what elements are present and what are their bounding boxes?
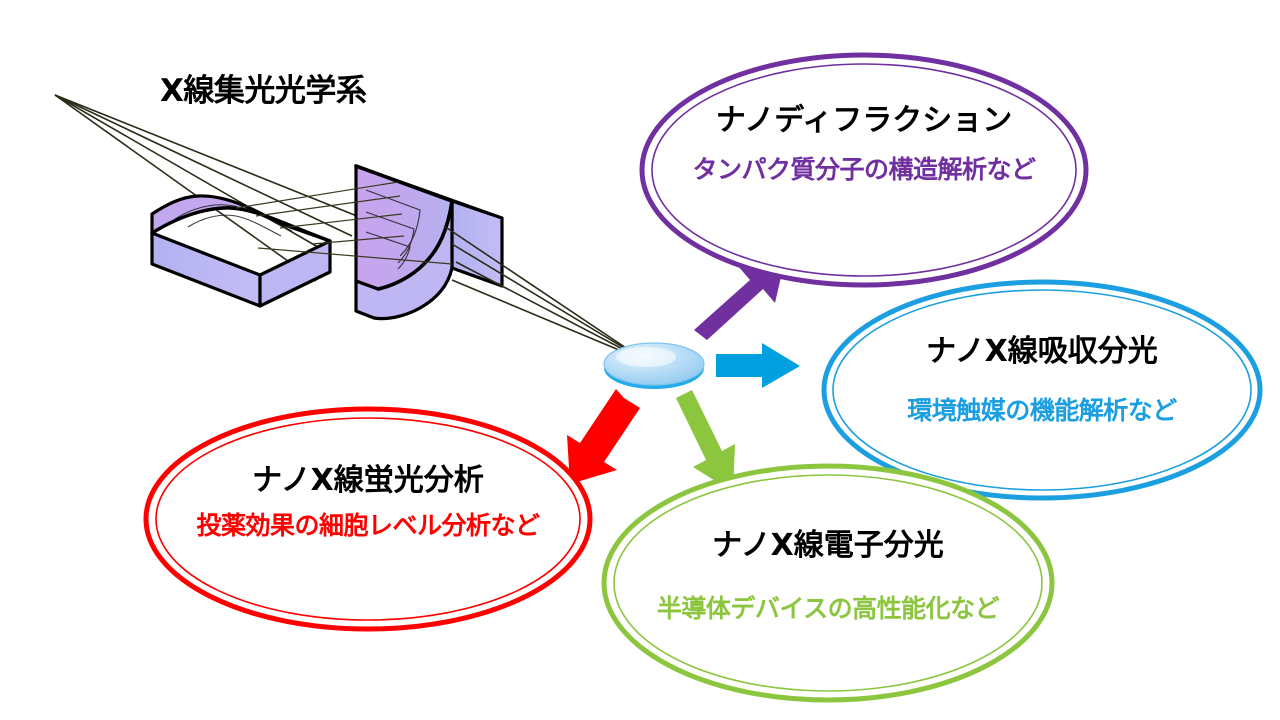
sample-disc	[604, 343, 704, 389]
figure-canvas: X線集光光学系 ナノディフラクション タンパク質分子の構造解析など ナノX線吸収…	[0, 0, 1280, 720]
xray-focusing-optics	[55, 95, 704, 389]
node-ellipse-nano-xray-absorption[interactable]	[824, 282, 1260, 498]
mirror-block-vertical	[356, 166, 502, 319]
node-ellipse-nano-diffraction[interactable]	[642, 55, 1086, 285]
arrow-to-fluorescence	[567, 389, 640, 484]
beam-focused-rays	[444, 226, 638, 358]
node-ellipse-nano-xray-fluorescence[interactable]	[146, 409, 590, 629]
diagram-scene	[0, 0, 1280, 720]
arrow-to-absorption	[716, 343, 800, 388]
node-ellipse-nano-xray-photoelectron[interactable]	[604, 466, 1052, 700]
